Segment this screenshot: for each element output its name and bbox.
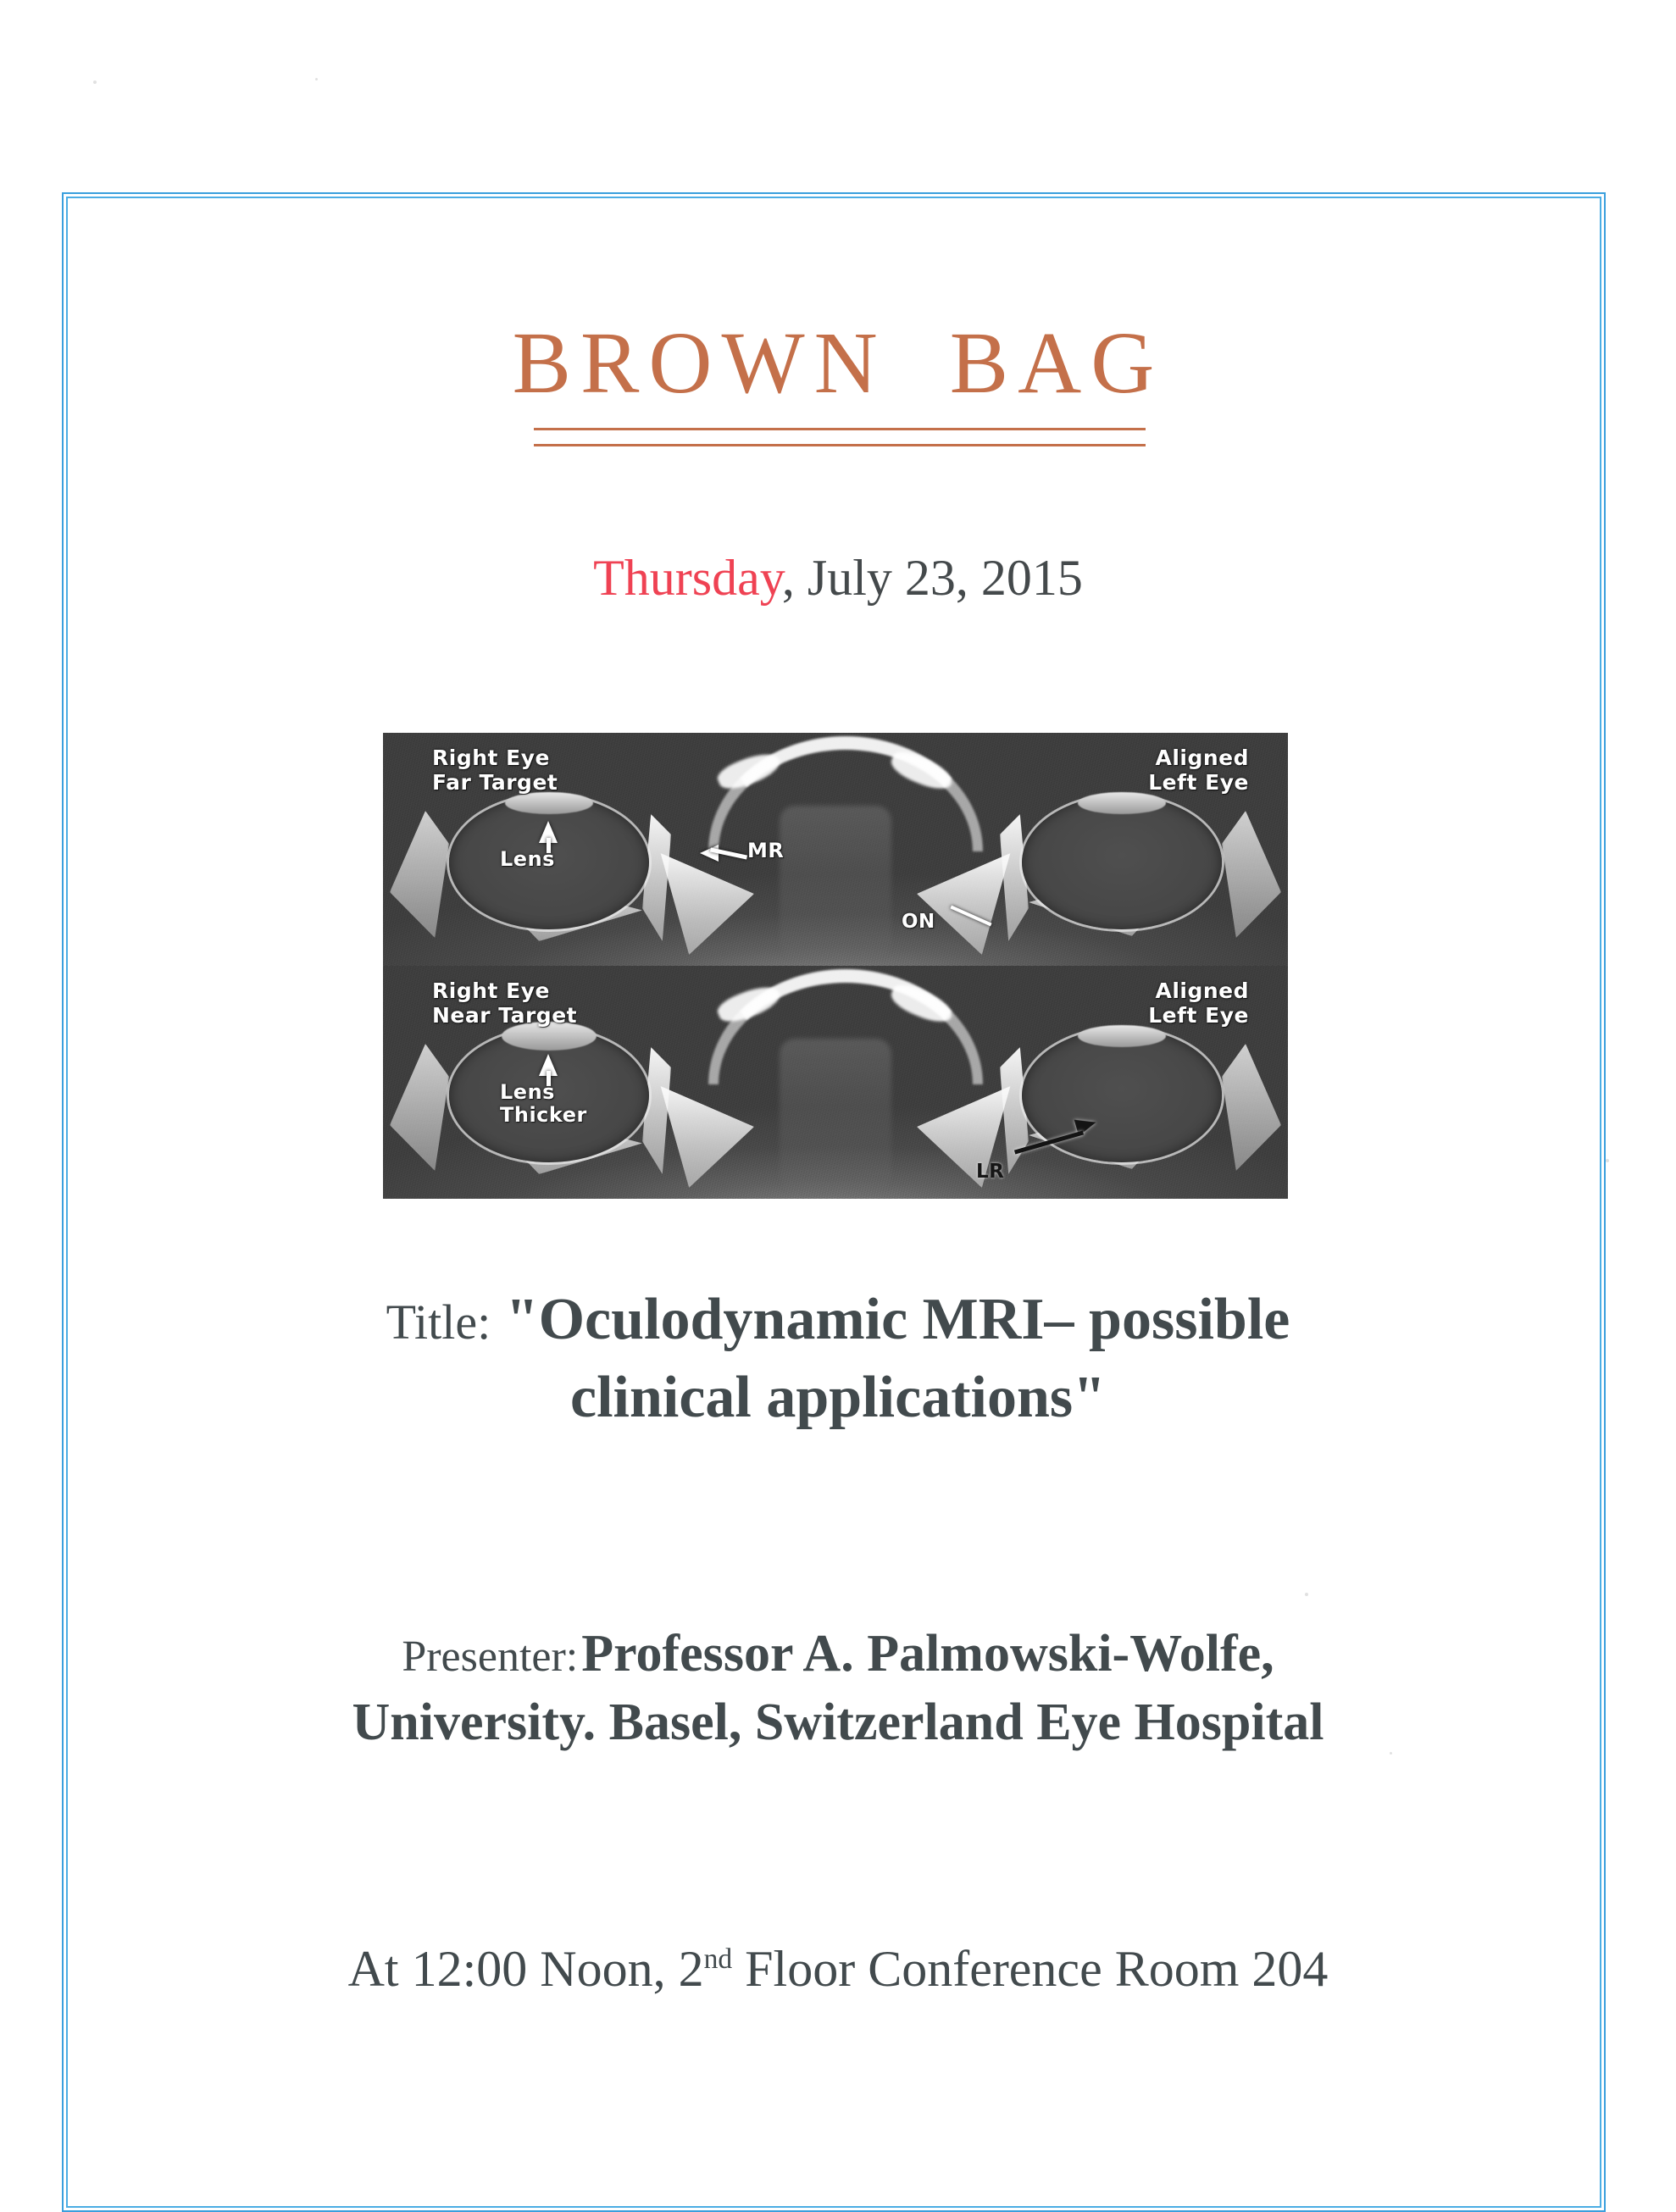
lens-structure: [1078, 1025, 1166, 1047]
event-logistics: At 12:00 Noon, 2nd Floor Conference Room…: [0, 1940, 1676, 1999]
mri-label-lateral-rectus: LR: [976, 1161, 1004, 1183]
scan-artifact: [1305, 1593, 1308, 1596]
midline-structure: [780, 1039, 891, 1191]
presenter-prefix-label: Presenter:: [402, 1633, 578, 1681]
presenter-line-1: Presenter: Professor A. Palmowski-Wolfe,: [85, 1620, 1591, 1688]
event-room-suffix: Floor Conference Room 204: [732, 1941, 1328, 1997]
page-title: BROWN BAG: [508, 319, 1169, 417]
scan-artifact: [1606, 1159, 1609, 1162]
midline-structure: [780, 806, 891, 958]
presenter-affiliation: University. Basel, Switzerland Eye Hospi…: [352, 1694, 1324, 1751]
event-date: Thursday, July 23, 2015: [0, 549, 1676, 607]
scan-artifact: [1390, 1752, 1392, 1755]
scan-artifact: [315, 78, 318, 80]
mri-label-optic-nerve: ON: [902, 911, 935, 933]
event-time-prefix: At 12:00 Noon, 2: [348, 1941, 704, 1997]
header-area: BROWN BAG: [0, 319, 1676, 417]
decorative-page-border: [62, 192, 1606, 2212]
mri-label-right-eye-near-target: Right Eye Near Target: [432, 979, 577, 1028]
mri-label-lens-thicker: Lens Thicker: [500, 1081, 587, 1128]
eye-globe-left-eye: [1022, 796, 1222, 929]
talk-title-text-line-2: clinical applications": [570, 1365, 1106, 1430]
title-underline-upper: [534, 428, 1146, 430]
mri-panel-far-target: Right Eye Far Target Aligned Left Eye Le…: [383, 733, 1288, 966]
mri-label-aligned-left-eye-bottom: Aligned Left Eye: [1148, 979, 1249, 1028]
lens-structure: [505, 792, 593, 814]
scan-artifact: [93, 80, 97, 84]
mri-label-lens: Lens: [500, 848, 555, 871]
mri-label-right-eye-far-target: Right Eye Far Target: [432, 746, 558, 795]
flyer-page: BROWN BAG Thursday, July 23, 2015: [0, 0, 1676, 2169]
talk-title-prefix-label: Title:: [386, 1294, 491, 1350]
title-underline-lower: [534, 444, 1146, 446]
presenter-block: Presenter: Professor A. Palmowski-Wolfe,…: [85, 1620, 1591, 1756]
event-floor-ordinal: nd: [704, 1943, 733, 1975]
mri-label-medial-rectus: MR: [747, 840, 784, 862]
presenter-line-2: University. Basel, Switzerland Eye Hospi…: [85, 1688, 1591, 1757]
talk-title-line-2: clinical applications": [110, 1359, 1566, 1437]
talk-title-text-line-1: "Oculodynamic MRI– possible: [506, 1287, 1290, 1352]
event-weekday: Thursday: [593, 550, 782, 606]
mri-label-aligned-left-eye-top: Aligned Left Eye: [1148, 746, 1249, 795]
mri-panel-near-target: Right Eye Near Target Aligned Left Eye L…: [383, 966, 1288, 1199]
presenter-name: Professor A. Palmowski-Wolfe,: [581, 1625, 1274, 1683]
lens-structure: [1078, 792, 1166, 814]
event-date-rest: , July 23, 2015: [782, 550, 1083, 606]
mri-figure: Right Eye Far Target Aligned Left Eye Le…: [383, 733, 1288, 1199]
talk-title-line-1: Title: "Oculodynamic MRI– possible: [110, 1281, 1566, 1359]
talk-title-block: Title: "Oculodynamic MRI– possible clini…: [110, 1281, 1566, 1438]
